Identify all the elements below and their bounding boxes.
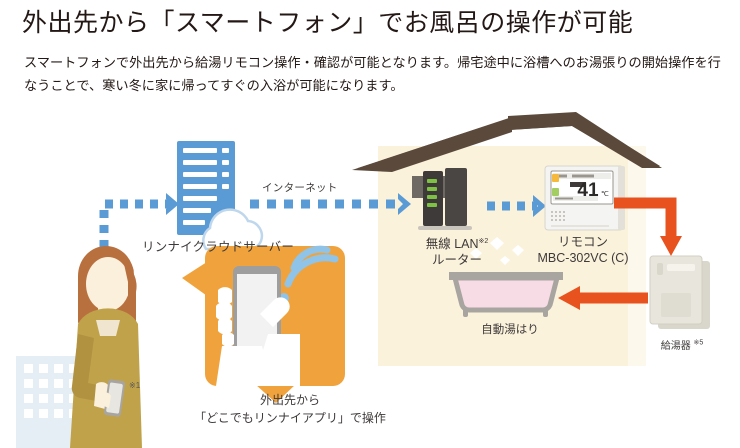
smartphone-panel <box>182 246 345 403</box>
label-heater-text: 給湯器 <box>661 341 691 352</box>
person-illustration <box>70 246 142 448</box>
label-remote-line1: リモコン <box>558 235 608 249</box>
label-internet: インターネット <box>262 180 338 195</box>
system-diagram: 41 ℃ <box>0 108 740 448</box>
water-heater-icon <box>650 256 710 329</box>
page-lead-paragraph: スマートフォンで外出先から給湯リモコン操作・確認が可能となります。帰宅途中に浴槽… <box>24 51 724 97</box>
label-cloud-server: リンナイクラウドサーバー <box>142 236 294 255</box>
label-router-note: ※2 <box>479 238 489 245</box>
label-heater: 給湯器 ※5 <box>642 337 722 352</box>
label-router-line2: ルーター <box>432 253 482 267</box>
label-phone-caption-line2: 「どこでもリンナイアプリ」で操作 <box>194 411 386 425</box>
label-phone-caption: 外出先から 「どこでもリンナイアプリ」で操作 <box>160 391 420 427</box>
label-router-line1: 無線 LAN <box>426 237 479 251</box>
label-router: 無線 LAN※2 ルーター <box>411 234 503 268</box>
remote-controller-icon: 41 ℃ <box>545 166 625 230</box>
wifi-router-icon <box>418 168 472 230</box>
label-phone-caption-line1: 外出先から <box>260 393 320 407</box>
cloud-server-icon <box>177 141 262 249</box>
svg-text:41: 41 <box>577 180 599 201</box>
label-person-note: ※1 <box>129 381 140 390</box>
label-heater-note: ※5 <box>694 340 704 347</box>
label-bathtub: 自動湯はり <box>455 321 565 337</box>
label-remote-line2: MBC-302VC (C) <box>538 251 629 265</box>
page-title: 外出先から「スマートフォン」でお風呂の操作が可能 <box>22 8 633 40</box>
svg-text:℃: ℃ <box>601 191 609 198</box>
label-remote: リモコン MBC-302VC (C) <box>518 234 648 266</box>
